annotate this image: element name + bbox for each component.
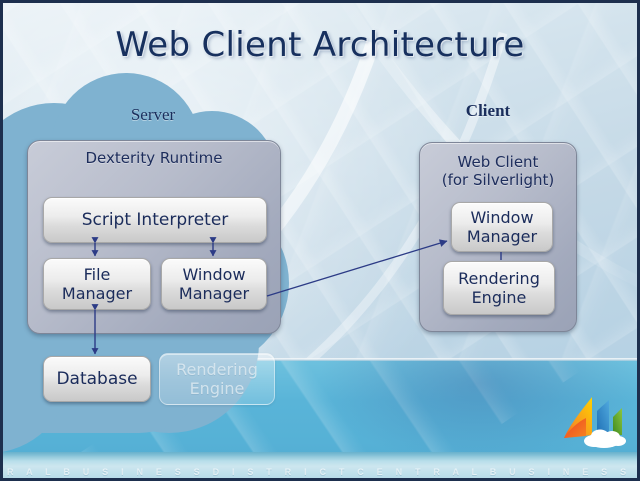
footer-watermark-text: R A L B U S I N E S S D I S T R I C T C …	[7, 467, 637, 477]
microsoft-dynamics-cloud-logo	[556, 391, 630, 451]
footer-watermark-strip: R A L B U S I N E S S D I S T R I C T C …	[3, 452, 637, 478]
slide-canvas: Web Client Architecture Server Client De…	[0, 0, 640, 481]
connector-layer	[3, 3, 640, 481]
connector-server-to-client-window-manager	[267, 241, 447, 296]
footer-watermark-shade	[3, 452, 637, 461]
